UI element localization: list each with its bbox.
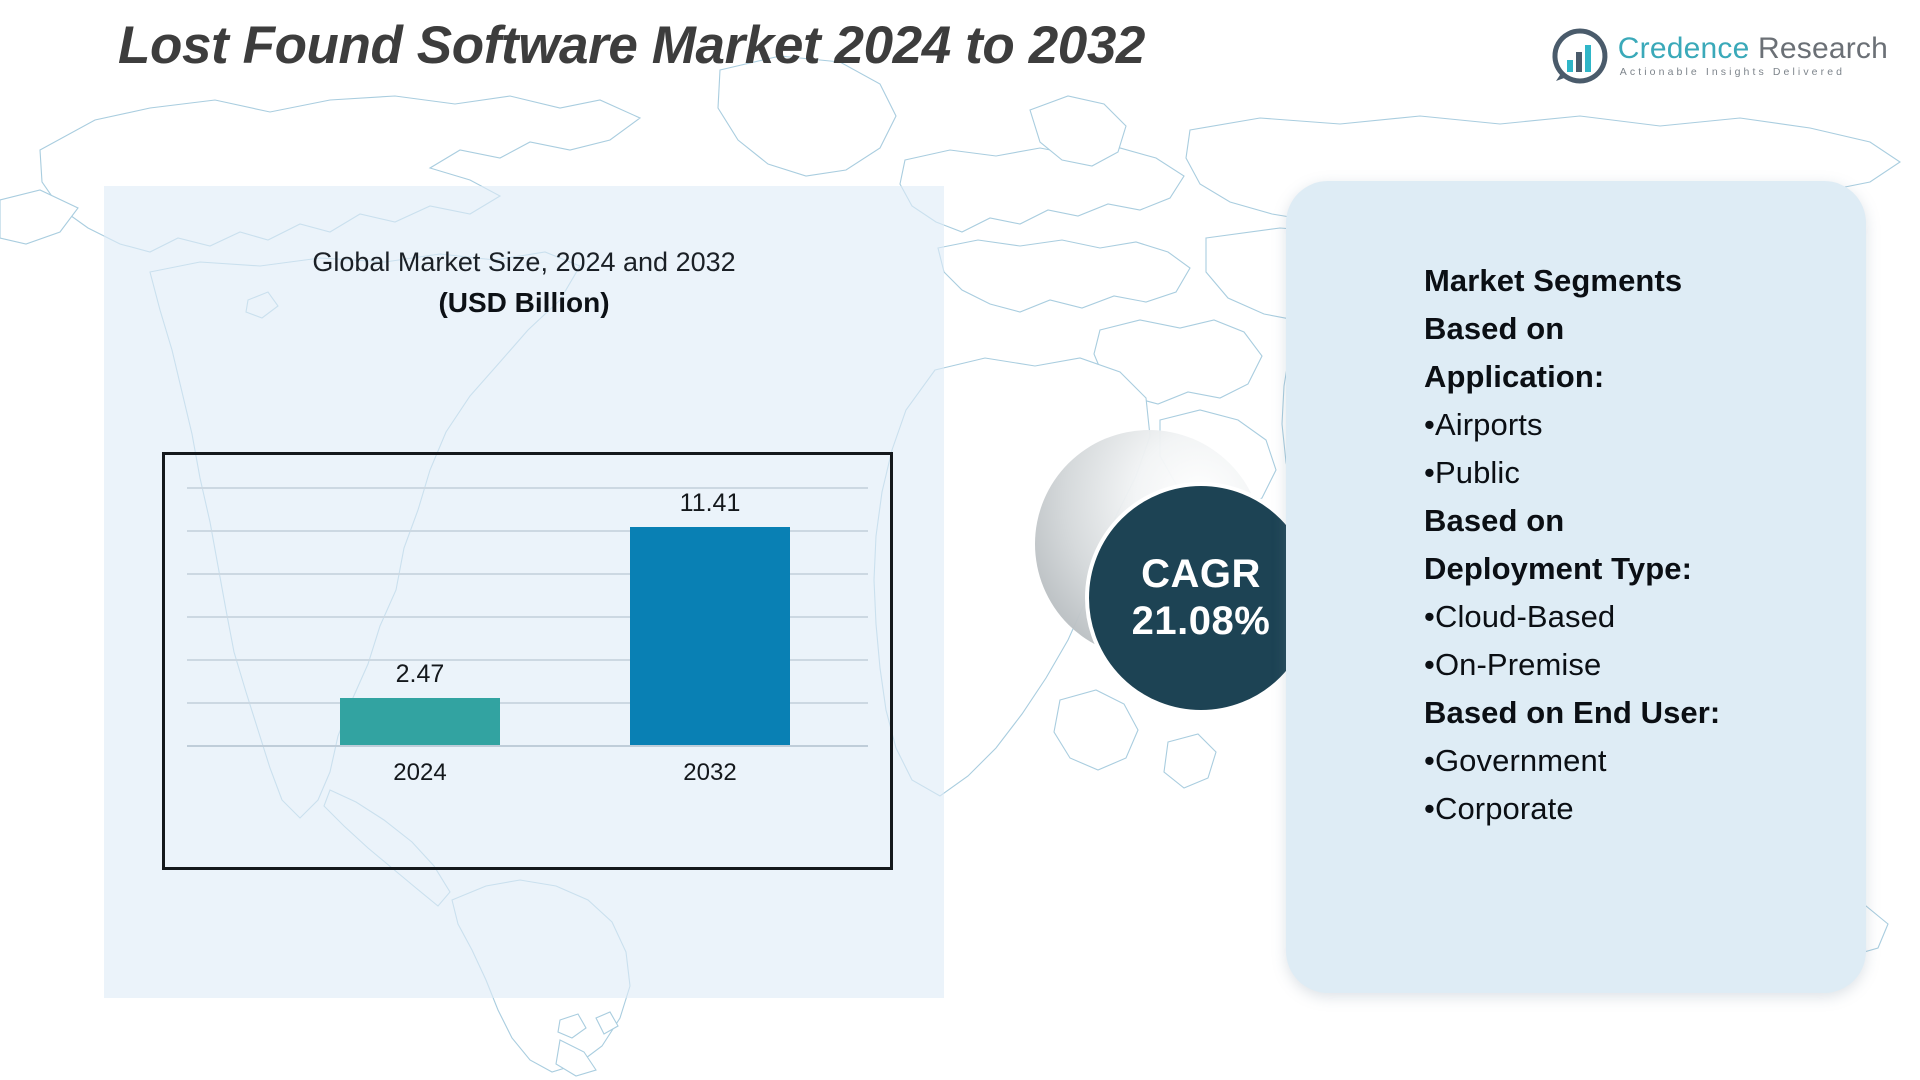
bar-label-2024: 2024 — [340, 759, 500, 787]
bar-2024 — [340, 698, 500, 745]
segment-bullet-item: •Government — [1424, 737, 1840, 785]
segment-bullet-item: •Corporate — [1424, 785, 1840, 833]
logo-wordmark: Credence Research — [1618, 33, 1888, 65]
credence-research-logo-icon — [1552, 28, 1608, 84]
page-title: Lost Found Software Market 2024 to 2032 — [118, 16, 1145, 76]
market-segments-panel: Market SegmentsBased onApplication:•Airp… — [1286, 181, 1866, 993]
segment-item-label: Cloud-Based — [1435, 599, 1615, 634]
segment-bullet-item: •Airports — [1424, 401, 1840, 449]
segment-bullet-item: •On-Premise — [1424, 641, 1840, 689]
segment-heading: Based on End User: — [1424, 689, 1840, 737]
bullet-icon: • — [1424, 791, 1435, 826]
segment-item-label: On-Premise — [1435, 647, 1601, 682]
bullet-icon: • — [1424, 407, 1435, 442]
logo-word-credence: Credence — [1618, 32, 1750, 65]
segment-heading: Based on — [1424, 497, 1840, 545]
cagr-badge: CAGR 21.08% — [1035, 430, 1325, 720]
cagr-circle: CAGR 21.08% — [1085, 482, 1317, 714]
chart-subtitle: (USD Billion) — [104, 285, 944, 321]
logo-tagline: Actionable Insights Delivered — [1618, 65, 1888, 79]
segment-bullet-item: •Cloud-Based — [1424, 593, 1840, 641]
bullet-icon: • — [1424, 743, 1435, 778]
bar-value-2024: 2.47 — [340, 660, 500, 688]
chart-axis-baseline — [187, 745, 868, 747]
market-segments-list: Market SegmentsBased onApplication:•Airp… — [1424, 257, 1840, 833]
chart-title: Global Market Size, 2024 and 2032 — [104, 245, 944, 279]
bar-value-2032: 11.41 — [630, 489, 790, 517]
logo-word-research: Research — [1749, 32, 1888, 65]
infographic-canvas: Lost Found Software Market 2024 to 2032 … — [0, 0, 1920, 1080]
bar-chart: 2.47202411.412032 — [162, 452, 893, 870]
bullet-icon: • — [1424, 647, 1435, 682]
cagr-value: 21.08% — [1132, 597, 1271, 645]
cagr-label: CAGR — [1141, 551, 1261, 597]
segment-bullet-item: •Public — [1424, 449, 1840, 497]
segment-heading: Deployment Type: — [1424, 545, 1840, 593]
chart-plot-area: 2.47202411.412032 — [165, 455, 890, 867]
bullet-icon: • — [1424, 455, 1435, 490]
segment-item-label: Corporate — [1435, 791, 1574, 826]
brand-logo: Credence Research Actionable Insights De… — [1552, 28, 1888, 84]
segment-heading: Application: — [1424, 353, 1840, 401]
segment-item-label: Public — [1435, 455, 1520, 490]
segment-heading: Market Segments — [1424, 257, 1840, 305]
logo-text-block: Credence Research Actionable Insights De… — [1618, 33, 1888, 79]
segment-item-label: Government — [1435, 743, 1607, 778]
segment-item-label: Airports — [1435, 407, 1543, 442]
bar-label-2032: 2032 — [630, 759, 790, 787]
segment-heading: Based on — [1424, 305, 1840, 353]
bar-2032 — [630, 527, 790, 745]
bullet-icon: • — [1424, 599, 1435, 634]
